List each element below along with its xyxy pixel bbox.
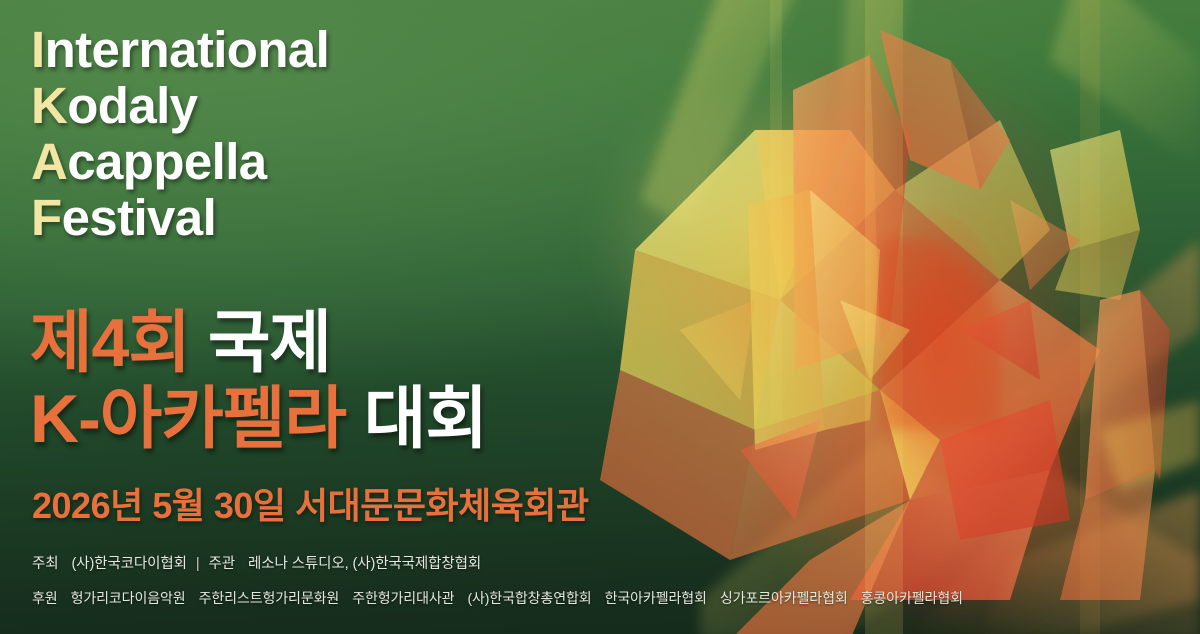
organizer-label: 주관 — [209, 556, 235, 572]
artwork-svg — [580, 0, 1200, 634]
english-title-line-4-rest: estival — [62, 189, 217, 246]
korean-title-competition: 대회 — [364, 381, 487, 457]
english-title-line-3: Acappella — [31, 134, 591, 190]
korean-title-international: 국제 — [208, 305, 331, 381]
korean-title-acappella: K-아카펠라 — [30, 381, 346, 457]
host-value: (사)한국코다이협회 — [71, 556, 186, 572]
sponsor-4: 한국아카펠라협회 — [605, 590, 707, 606]
credit-line-sponsors: 후원헝가리코다이음악원주한리스트헝가리문화원주한헝가리대사관(사)한국합창총연합… — [32, 588, 963, 608]
organizer-value: 레소나 스튜디오, (사)한국국제합창협회 — [248, 556, 481, 572]
host-label: 주최 — [32, 556, 58, 572]
english-title-line-1: International — [31, 22, 591, 78]
poster-canvas: International Kodaly Acappella Festival … — [0, 0, 1200, 634]
initial-letter-a: A — [31, 133, 67, 190]
sponsor-2: 주한헝가리대사관 — [352, 590, 454, 606]
credit-separator: | — [187, 554, 209, 574]
english-title-line-4: Festival — [31, 190, 591, 246]
korean-title-edition: 제4회 — [30, 305, 190, 381]
english-title-line-2: Kodaly — [31, 78, 591, 134]
english-title-block: International Kodaly Acappella Festival — [31, 22, 591, 246]
english-title-line-2-rest: odaly — [67, 77, 197, 134]
korean-title-block: 제4회 국제 K-아카펠라 대회 — [30, 305, 670, 457]
sponsor-3: (사)한국합창총연합회 — [467, 590, 591, 606]
initial-letter-i: I — [31, 21, 45, 78]
sponsor-6: 홍콩아카펠라협회 — [861, 590, 963, 606]
initial-letter-k: K — [31, 77, 67, 134]
english-title-line-3-rest: cappella — [67, 133, 266, 190]
korean-title-line-1: 제4회 국제 — [30, 305, 670, 381]
korean-title-line-2: K-아카펠라 대회 — [30, 381, 670, 457]
sponsor-label: 후원 — [32, 590, 58, 606]
abstract-polygonal-crystal-graphic — [580, 0, 1200, 634]
credit-line-host-organizer: 주최(사)한국코다이협회|주관레소나 스튜디오, (사)한국국제합창협회 — [32, 554, 481, 574]
sponsor-0: 헝가리코다이음악원 — [71, 590, 186, 606]
initial-letter-f: F — [31, 189, 62, 246]
date-venue-line: 2026년 5월 30일 서대문문화체육회관 — [32, 485, 589, 527]
english-title-line-1-rest: nternational — [45, 21, 330, 78]
sponsor-5: 싱가포르아카펠라협회 — [720, 590, 848, 606]
sponsor-1: 주한리스트헝가리문화원 — [199, 590, 340, 606]
